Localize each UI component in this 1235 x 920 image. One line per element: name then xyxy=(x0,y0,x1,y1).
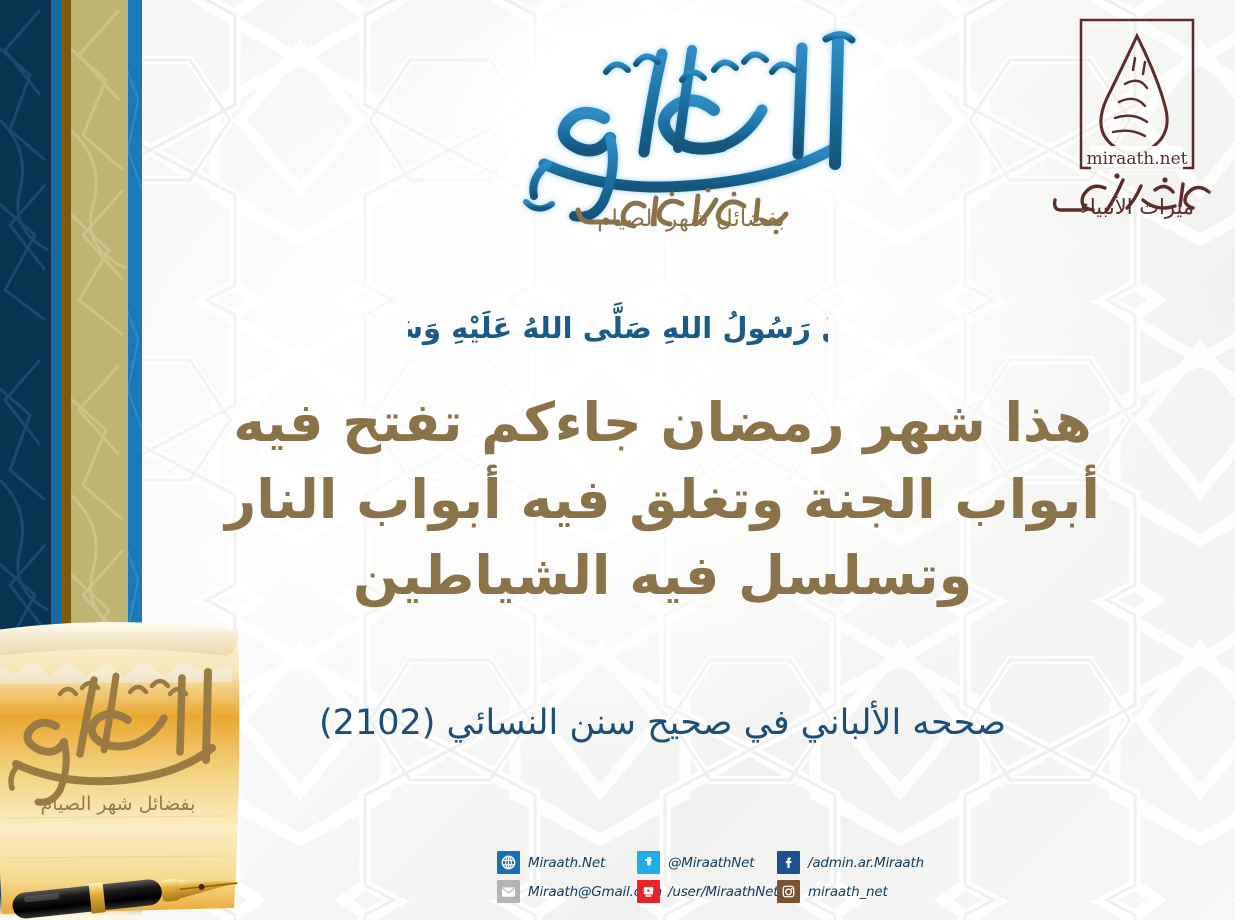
parchment-scroll: بفضائل شهر الصيام xyxy=(0,608,294,920)
hadith-line-2: أبواب الجنة وتغلق فيه أبواب النار xyxy=(150,462,1175,539)
facebook-icon xyxy=(777,851,800,874)
hadith-attribution: قَالَ رَسُولُ اللهِ صَلَّى اللهُ عَلَيْه… xyxy=(0,292,1235,358)
globe-icon xyxy=(497,851,520,874)
social-links: Miraath.Net Miraath@Gmail.com xyxy=(497,851,967,903)
poster-canvas: بفضائل شهر الصيام miraath.net xyxy=(0,0,1235,920)
social-item-youtube[interactable]: /user/MiraathNet xyxy=(637,880,777,903)
hadith-text: هذا شهر رمضان جاءكم تفتح فيه أبواب الجنة… xyxy=(150,385,1175,615)
brand-logo: بفضائل شهر الصيام xyxy=(486,14,896,244)
social-label-instagram: miraath_net xyxy=(808,884,888,900)
miraath-name-ar: ميراث الأنبياء xyxy=(1080,194,1194,219)
social-label-website: Miraath.Net xyxy=(528,855,605,871)
twitter-icon xyxy=(637,851,660,874)
youtube-icon xyxy=(637,880,660,903)
social-item-facebook[interactable]: /admin.ar.Miraath xyxy=(777,851,957,874)
social-label-youtube: /user/MiraathNet xyxy=(668,884,778,900)
miraath-logo: miraath.net ميراث الأنبياء xyxy=(1047,14,1227,229)
social-item-email[interactable]: Miraath@Gmail.com xyxy=(497,880,637,903)
social-column-2: @MiraathNet /user/MiraathNet xyxy=(637,851,777,903)
instagram-icon xyxy=(777,880,800,903)
hadith-line-3: وتسلسل فيه الشياطين xyxy=(150,538,1175,615)
social-label-facebook: /admin.ar.Miraath xyxy=(808,855,924,871)
envelope-icon xyxy=(497,880,520,903)
hadith-grading: صححه الألباني في صحيح سنن النسائي (2102) xyxy=(150,703,1175,743)
hadith-attribution-text: قَالَ رَسُولُ اللهِ صَلَّى اللهُ عَلَيْه… xyxy=(408,302,828,345)
scroll-logo-subtitle: بفضائل شهر الصيام xyxy=(41,793,196,815)
social-item-website[interactable]: Miraath.Net xyxy=(497,851,637,874)
brand-logo-subtitle: بفضائل شهر الصيام xyxy=(597,206,785,232)
social-column-1: Miraath.Net Miraath@Gmail.com xyxy=(497,851,637,903)
social-item-instagram[interactable]: miraath_net xyxy=(777,880,957,903)
miraath-domain-text: miraath.net xyxy=(1087,149,1188,169)
hadith-line-1: هذا شهر رمضان جاءكم تفتح فيه xyxy=(150,385,1175,462)
social-item-twitter[interactable]: @MiraathNet xyxy=(637,851,777,874)
social-label-twitter: @MiraathNet xyxy=(668,855,754,871)
social-column-3: /admin.ar.Miraath miraath_net xyxy=(777,851,957,903)
